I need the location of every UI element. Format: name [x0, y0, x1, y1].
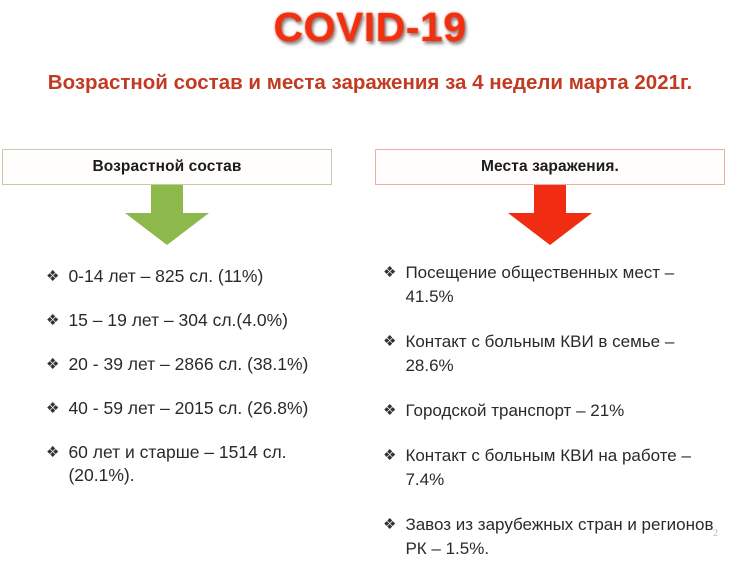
header-box-age-composition: Возрастной состав	[2, 149, 332, 185]
list-item-label: 20 - 39 лет – 2866 сл. (38.1%)	[68, 353, 330, 376]
bullet-diamond-icon: ❖	[46, 309, 59, 332]
arrow-down-icon	[498, 185, 602, 245]
bullet-diamond-icon: ❖	[46, 397, 59, 420]
list-item: ❖ Городской транспорт – 21%	[383, 399, 725, 423]
header-label-age-composition: Возрастной состав	[92, 158, 241, 176]
list-item: ❖ Контакт с больным КВИ в семье – 28.6%	[383, 330, 725, 378]
header-label-infection-places: Места заражения.	[481, 158, 619, 176]
list-item: ❖ 40 - 59 лет – 2015 сл. (26.8%)	[46, 397, 332, 420]
list-item: ❖ Завоз из зарубежных стран и регионов Р…	[383, 513, 725, 561]
list-item: ❖ Посещение общественных мест – 41.5%	[383, 261, 725, 309]
arrow-down-icon	[115, 185, 219, 245]
column-infection-places: Места заражения. ❖ Посещение общественны…	[375, 149, 725, 582]
list-item-label: Городской транспорт – 21%	[405, 399, 725, 423]
arrow-wrap-left	[2, 185, 332, 245]
list-item-label: Контакт с больным КВИ на работе – 7.4%	[405, 444, 725, 492]
column-age-composition: Возрастной состав ❖ 0-14 лет – 825 сл. (…	[2, 149, 332, 508]
list-item: ❖ 60 лет и старше – 1514 сл. (20.1%).	[46, 441, 332, 487]
bullet-diamond-icon: ❖	[383, 330, 396, 353]
bullet-diamond-icon: ❖	[383, 513, 396, 536]
list-item-label: 15 – 19 лет – 304 сл.(4.0%)	[68, 309, 330, 332]
list-item-label: 0-14 лет – 825 сл. (11%)	[68, 265, 330, 288]
bullet-diamond-icon: ❖	[383, 444, 396, 467]
bullet-diamond-icon: ❖	[46, 441, 59, 464]
list-item: ❖ 20 - 39 лет – 2866 сл. (38.1%)	[46, 353, 332, 376]
header-box-infection-places: Места заражения.	[375, 149, 725, 185]
bullet-diamond-icon: ❖	[383, 261, 396, 284]
page-title: COVID-19	[0, 4, 740, 51]
page-number: 2	[713, 528, 718, 539]
bullet-diamond-icon: ❖	[383, 399, 396, 422]
list-item: ❖ Контакт с больным КВИ на работе – 7.4%	[383, 444, 725, 492]
list-item: ❖ 0-14 лет – 825 сл. (11%)	[46, 265, 332, 288]
list-item-label: Контакт с больным КВИ в семье – 28.6%	[405, 330, 725, 378]
page-subtitle: Возрастной состав и места заражения за 4…	[40, 68, 700, 97]
list-age-composition: ❖ 0-14 лет – 825 сл. (11%) ❖ 15 – 19 лет…	[2, 265, 332, 487]
bullet-diamond-icon: ❖	[46, 353, 59, 376]
list-item-label: Завоз из зарубежных стран и регионов РК …	[405, 513, 725, 561]
list-infection-places: ❖ Посещение общественных мест – 41.5% ❖ …	[375, 261, 725, 561]
arrow-wrap-right	[375, 185, 725, 245]
list-item-label: 40 - 59 лет – 2015 сл. (26.8%)	[68, 397, 330, 420]
bullet-diamond-icon: ❖	[46, 265, 59, 288]
list-item: ❖ 15 – 19 лет – 304 сл.(4.0%)	[46, 309, 332, 332]
list-item-label: 60 лет и старше – 1514 сл. (20.1%).	[68, 441, 330, 487]
list-item-label: Посещение общественных мест – 41.5%	[405, 261, 725, 309]
